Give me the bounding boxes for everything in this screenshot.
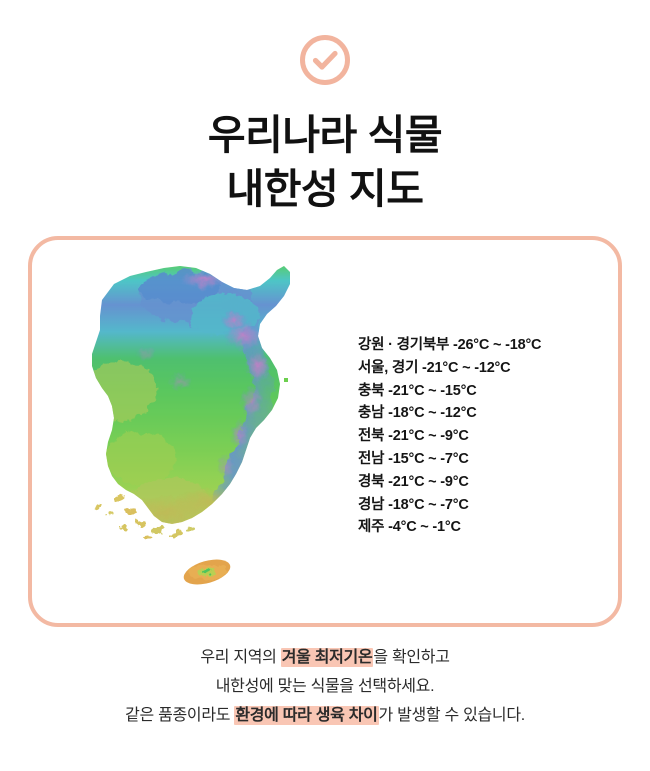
legend-row: 전남 -15°C ~ -7°C xyxy=(358,448,608,471)
footer-line-3: 같은 품종이라도 환경에 따라 생육 차이가 발생할 수 있습니다. xyxy=(0,701,650,730)
legend-row: 충남 -18°C ~ -12°C xyxy=(358,402,608,425)
check-circle-icon xyxy=(299,34,351,86)
legend-list: 강원 · 경기북부 -26°C ~ -18°C 서울, 경기 -21°C ~ -… xyxy=(358,334,608,539)
legend-row: 전북 -21°C ~ -9°C xyxy=(358,425,608,448)
footer-text: 우리 지역의 xyxy=(200,649,280,666)
legend-row: 제주 -4°C ~ -1°C xyxy=(358,516,608,539)
map-card: 강원 · 경기북부 -26°C ~ -18°C 서울, 경기 -21°C ~ -… xyxy=(28,236,622,627)
footer-note: 우리 지역의 겨울 최저기온을 확인하고 내한성에 맞는 식물을 선택하세요. … xyxy=(0,643,650,730)
page-title: 우리나라 식물 내한성 지도 xyxy=(0,108,650,216)
footer-highlight: 환경에 따라 생육 차이 xyxy=(234,706,378,725)
jeju-island xyxy=(174,554,244,592)
title-line-1: 우리나라 식물 xyxy=(0,108,650,162)
footer-highlight: 겨울 최저기온 xyxy=(281,648,374,667)
footer-text: 가 발생할 수 있습니다. xyxy=(379,707,525,724)
legend-row: 경남 -18°C ~ -7°C xyxy=(358,494,608,517)
hardiness-zone-map xyxy=(84,262,334,602)
footer-line-2: 내한성에 맞는 식물을 선택하세요. xyxy=(0,672,650,701)
legend-row: 충북 -21°C ~ -15°C xyxy=(358,380,608,403)
footer-text: 을 확인하고 xyxy=(373,649,449,666)
title-line-2: 내한성 지도 xyxy=(0,162,650,216)
footer-line-1: 우리 지역의 겨울 최저기온을 확인하고 xyxy=(0,643,650,672)
legend-row: 경북 -21°C ~ -9°C xyxy=(358,471,608,494)
legend-row: 서울, 경기 -21°C ~ -12°C xyxy=(358,357,608,380)
offshore-island-dot xyxy=(284,378,288,382)
footer-text: 같은 품종이라도 xyxy=(125,707,234,724)
legend-row: 강원 · 경기북부 -26°C ~ -18°C xyxy=(358,334,608,357)
